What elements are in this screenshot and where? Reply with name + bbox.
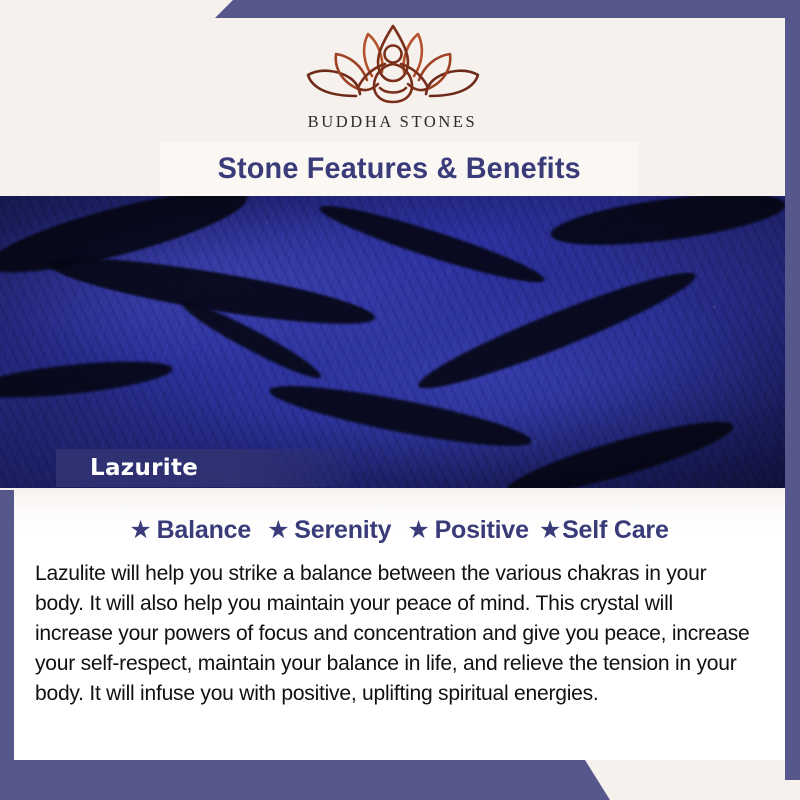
benefit-item-1: ★ Serenity	[267, 516, 391, 545]
description-text: Lazulite will help you strike a balance …	[35, 559, 752, 709]
frame-band-left	[0, 490, 14, 800]
stone-name-label: Lazurite	[90, 455, 198, 481]
benefit-item-3: ★ Self Care	[539, 516, 669, 545]
stone-photo-vignette	[0, 196, 785, 488]
star-icon: ★	[129, 518, 151, 543]
benefit-label: Serenity	[294, 516, 391, 545]
lotus-meditation-icon	[298, 18, 488, 110]
stone-photo	[0, 196, 785, 488]
benefit-label: Self Care	[562, 516, 669, 545]
star-icon: ★	[539, 518, 561, 543]
star-icon: ★	[267, 518, 289, 543]
benefit-item-2: ★ Positive	[407, 516, 529, 545]
benefit-item-0: ★ Balance	[129, 516, 251, 545]
benefit-label: Balance	[157, 516, 252, 545]
stone-name-plate: Lazurite	[56, 449, 350, 487]
content-panel: ★ Balance ★ Serenity ★ Positive ★ Self C…	[13, 488, 785, 760]
frame-band-top	[215, 0, 800, 18]
star-icon: ★	[407, 518, 429, 543]
benefit-label: Positive	[435, 516, 529, 545]
stone-info-poster: BUDDHA STONES Stone Features & Benefits …	[0, 0, 800, 800]
benefits-row: ★ Balance ★ Serenity ★ Positive ★ Self C…	[13, 516, 785, 545]
page-title: Stone Features & Benefits	[217, 152, 580, 186]
frame-band-bottom	[0, 760, 610, 800]
brand-logo: BUDDHA STONES	[0, 18, 785, 140]
brand-name: BUDDHA STONES	[308, 112, 478, 132]
title-plate: Stone Features & Benefits	[160, 142, 638, 196]
frame-band-right	[785, 0, 800, 780]
header-section: BUDDHA STONES Stone Features & Benefits	[0, 0, 785, 196]
